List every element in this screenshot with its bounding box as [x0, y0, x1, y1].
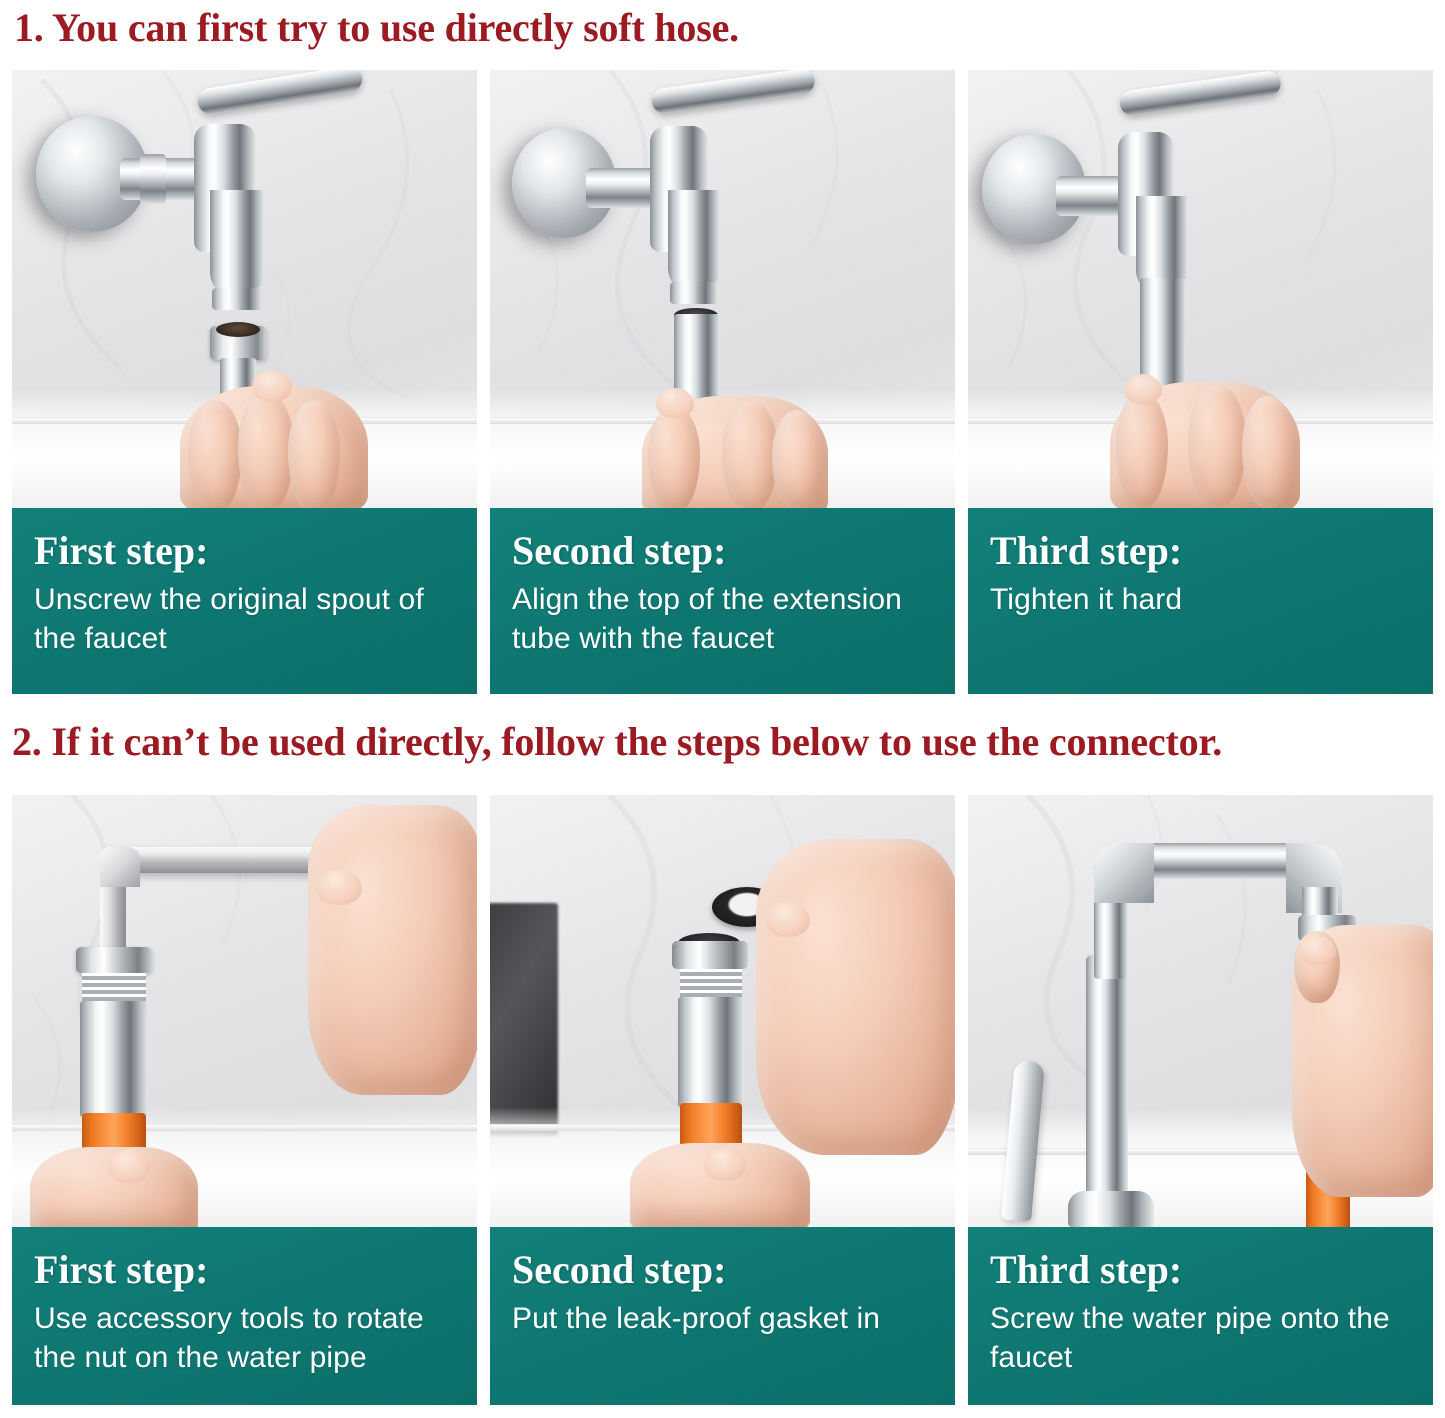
instruction-sheet: 1. You can first try to use directly sof…	[0, 0, 1445, 1418]
step-body: Use accessory tools to rotate the nut on…	[34, 1299, 455, 1377]
finger	[1242, 396, 1294, 508]
finger	[1116, 392, 1168, 508]
connector-barrel	[678, 997, 744, 1107]
step-panel: Third step: Screw the water pipe onto th…	[968, 795, 1433, 1405]
screw-pipe-onto-faucet-photo	[968, 795, 1433, 1227]
finger	[1188, 384, 1246, 508]
finger	[238, 392, 294, 508]
step-body: Put the leak-proof gasket in	[512, 1299, 933, 1338]
step-body: Screw the water pipe onto the faucet	[990, 1299, 1411, 1377]
step-caption: First step: Unscrew the original spout o…	[12, 508, 477, 694]
step-body: Unscrew the original spout of the faucet	[34, 580, 455, 658]
section-heading-two: 2. If it can’t be used directly, follow …	[12, 716, 1222, 768]
kitchen-faucet-left-corner	[1094, 843, 1154, 903]
section-heading-one: 1. You can first try to use directly sof…	[14, 2, 739, 54]
step-title: Second step:	[512, 528, 933, 574]
fingernail	[656, 388, 694, 418]
faucet-spout	[668, 190, 720, 294]
fingernail	[1124, 374, 1162, 404]
connector-barrel	[80, 1001, 148, 1117]
step-caption: First step: Use accessory tools to rotat…	[12, 1227, 477, 1405]
chrome-nut	[672, 941, 748, 969]
step-panel: First step: Use accessory tools to rotat…	[12, 795, 477, 1405]
faucet-inlet-collar	[140, 154, 166, 204]
kitchen-faucet-base	[1068, 1191, 1154, 1227]
faucet-unscrew-spout-photo	[12, 70, 477, 508]
insert-gasket-photo	[490, 795, 955, 1227]
finger	[722, 400, 778, 508]
step-title: First step:	[34, 528, 455, 574]
step-title: Third step:	[990, 1247, 1411, 1293]
finger	[772, 410, 822, 508]
step-title: Second step:	[512, 1247, 933, 1293]
finger	[288, 400, 340, 508]
background-appliance	[490, 903, 558, 1139]
step-title: Third step:	[990, 528, 1411, 574]
step-panel: First step: Unscrew the original spout o…	[12, 70, 477, 694]
faucet-spout-tip	[212, 288, 262, 310]
hex-key-rotate-nut-photo	[12, 795, 477, 1227]
chrome-nut	[76, 947, 152, 973]
faucet-spout-tip	[670, 282, 718, 304]
section-one-panels: First step: Unscrew the original spout o…	[12, 70, 1433, 694]
step-body: Tighten it hard	[990, 580, 1411, 619]
align-extension-tube-photo	[490, 70, 955, 508]
step-caption: Third step: Tighten it hard	[968, 508, 1433, 694]
finger	[188, 400, 242, 508]
faucet-spout	[210, 190, 264, 298]
step-title: First step:	[34, 1247, 455, 1293]
step-panel: Second step: Align the top of the extens…	[490, 70, 955, 694]
hand	[308, 805, 477, 1095]
tighten-tube-photo	[968, 70, 1433, 508]
hex-key-wrench-corner	[100, 847, 140, 887]
fingernail	[1298, 935, 1336, 965]
fingernail	[704, 1147, 746, 1181]
connector-threads	[680, 969, 742, 997]
kitchen-faucet-column	[1086, 955, 1128, 1223]
step-caption: Second step: Put the leak-proof gasket i…	[490, 1227, 955, 1405]
fingernail	[316, 869, 362, 905]
connector-threads	[82, 973, 146, 1001]
section-two-panels: First step: Use accessory tools to rotat…	[12, 795, 1433, 1405]
step-panel: Third step: Tighten it hard	[968, 70, 1433, 694]
aerator-opening	[216, 322, 260, 337]
fingernail	[252, 370, 292, 402]
fingernail	[108, 1149, 150, 1183]
step-caption: Second step: Align the top of the extens…	[490, 508, 955, 694]
fingernail	[766, 901, 810, 937]
finger	[648, 406, 700, 508]
hand	[756, 839, 955, 1155]
step-caption: Third step: Screw the water pipe onto th…	[968, 1227, 1433, 1405]
step-body: Align the top of the extension tube with…	[512, 580, 933, 658]
step-panel: Second step: Put the leak-proof gasket i…	[490, 795, 955, 1405]
